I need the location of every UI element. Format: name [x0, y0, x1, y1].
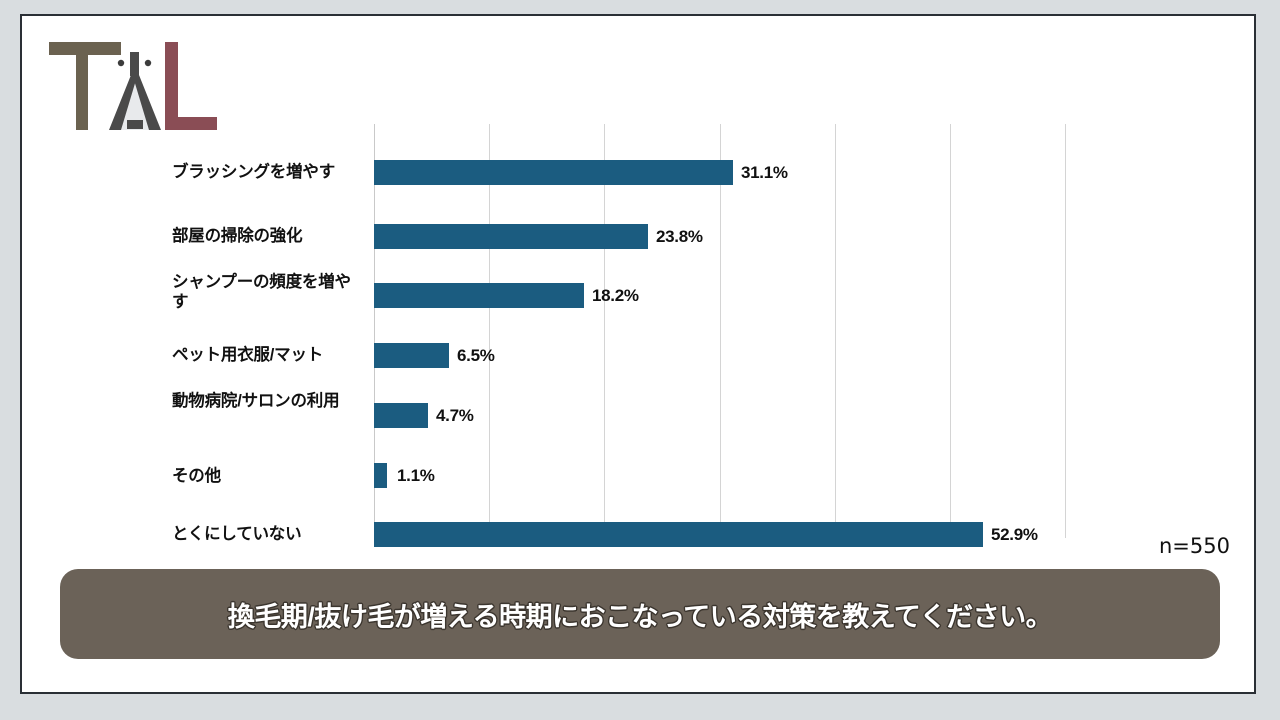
category-label: ペット用衣服/マット	[172, 345, 372, 365]
category-label: 部屋の掃除の強化	[172, 226, 372, 246]
gridline	[604, 124, 605, 538]
category-label: その他	[172, 466, 372, 486]
category-label: ブラッシングを増やす	[172, 162, 372, 182]
question-banner: 換毛期/抜け毛が増える時期におこなっている対策を教えてください。	[60, 569, 1220, 659]
category-label: とくにしていない	[172, 524, 372, 544]
bar	[374, 160, 733, 185]
bar	[374, 403, 428, 428]
bar	[374, 224, 648, 249]
gridline	[720, 124, 721, 538]
gridline	[950, 124, 951, 538]
category-label: 動物病院/サロンの利用	[172, 391, 352, 411]
plot-area: 31.1% 23.8% 18.2% 6.5% 4.7% 1.1% 52.9%	[374, 116, 1066, 546]
category-label: シャンプーの頻度を増やす	[172, 272, 352, 312]
bar-chart: ブラッシングを増やす 部屋の掃除の強化 シャンプーの頻度を増やす ペット用衣服/…	[22, 116, 1254, 546]
logo-eye-left-icon	[118, 60, 124, 66]
bar-value-label: 1.1%	[397, 466, 435, 486]
bar-value-label: 31.1%	[741, 163, 788, 183]
slide-canvas: ブラッシングを増やす 部屋の掃除の強化 シャンプーの頻度を増やす ペット用衣服/…	[20, 14, 1256, 694]
sample-size-annotation: n=550	[1159, 534, 1230, 558]
bar	[374, 343, 449, 368]
bar-value-label: 23.8%	[656, 227, 703, 247]
logo-letter-a-apex	[130, 52, 139, 76]
bar-value-label: 18.2%	[592, 286, 639, 306]
gridline	[835, 124, 836, 538]
logo-eye-right-icon	[145, 60, 151, 66]
bar-value-label: 52.9%	[991, 525, 1038, 545]
gridline	[489, 124, 490, 538]
bar-value-label: 4.7%	[436, 406, 474, 426]
gridline	[1065, 124, 1066, 538]
question-banner-text: 換毛期/抜け毛が増える時期におこなっている対策を教えてください。	[228, 595, 1052, 634]
bar	[374, 522, 983, 547]
bar-value-label: 6.5%	[457, 346, 495, 366]
bar	[374, 463, 387, 488]
bar	[374, 283, 584, 308]
